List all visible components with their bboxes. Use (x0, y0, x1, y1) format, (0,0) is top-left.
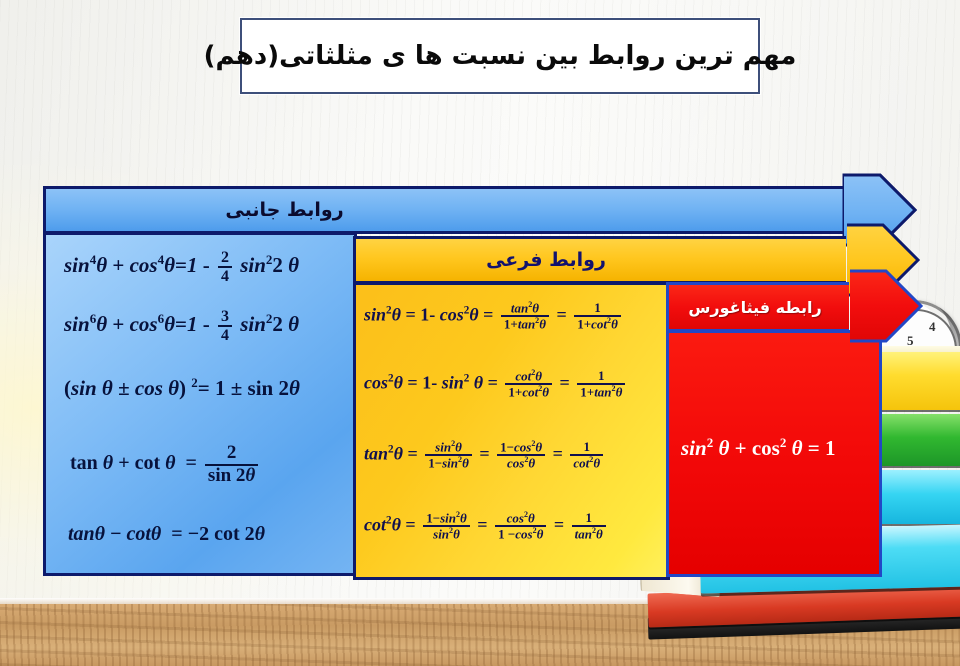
arrow-header-secondary-relations: روابط فرعی (353, 236, 921, 284)
formula-yellow-2: cos2θ = 1- sin2 θ = cot2θ1+cot2θ = 11+ta… (364, 369, 628, 400)
page-title: مهم ترین روابط بین نسبت ها ی مثلثاتی(دهم… (204, 41, 797, 71)
panel-side-relations: sin4θ + cos4θ=1 - 24 sin22 θ sin6θ + cos… (43, 232, 357, 576)
formula-blue-2: sin6θ + cos6θ=1 - 34 sin22 θ (64, 308, 299, 345)
arrow-red-body: رابطه فیثاغورس (666, 282, 849, 332)
panel-secondary-relations: sin2θ = 1- cos2θ = tan2θ1+tan2θ = 11+cot… (353, 282, 670, 580)
arrow-red-head (848, 282, 923, 332)
formula-yellow-3: tan2θ = sin2θ1−sin2θ = 1−cos2θcos2θ = 1c… (364, 440, 606, 471)
arrow-header-pythagorean: رابطه فیثاغورس (666, 282, 924, 332)
clock-number-4: 4 (929, 319, 936, 335)
arrow-blue-label: روابط جانبی (225, 199, 343, 221)
arrow-yellow-label: روابط فرعی (486, 249, 606, 271)
formula-blue-5: tanθ − cotθ = −2 cot 2θ (68, 523, 265, 546)
arrow-header-side-relations: روابط جانبی (43, 186, 918, 234)
page-title-box: مهم ترین روابط بین نسبت ها ی مثلثاتی(دهم… (240, 18, 760, 94)
formula-blue-1: sin4θ + cos4θ=1 - 24 sin22 θ (64, 249, 299, 286)
formula-yellow-4: cot2θ = 1−sin2θsin2θ = cos2θ1 −cos2θ = 1… (364, 511, 609, 542)
arrow-blue-body: روابط جانبی (43, 186, 843, 234)
chevron-right-icon (848, 269, 923, 343)
formula-red-pythagorean: sin2 θ + cos2 θ = 1 (681, 435, 835, 461)
formula-yellow-1: sin2θ = 1- cos2θ = tan2θ1+tan2θ = 11+cot… (364, 301, 624, 332)
formula-blue-3: (sin θ ± cos θ) 2= 1 ± sin 2θ (64, 375, 300, 401)
arrow-yellow-body: روابط فرعی (353, 236, 846, 284)
arrow-red-label: رابطه فیثاغورس (688, 298, 821, 317)
panel-pythagorean-relation: sin2 θ + cos2 θ = 1 (666, 330, 882, 577)
formula-blue-4: tan θ + cot θ = 2sin 2θ (70, 443, 261, 486)
